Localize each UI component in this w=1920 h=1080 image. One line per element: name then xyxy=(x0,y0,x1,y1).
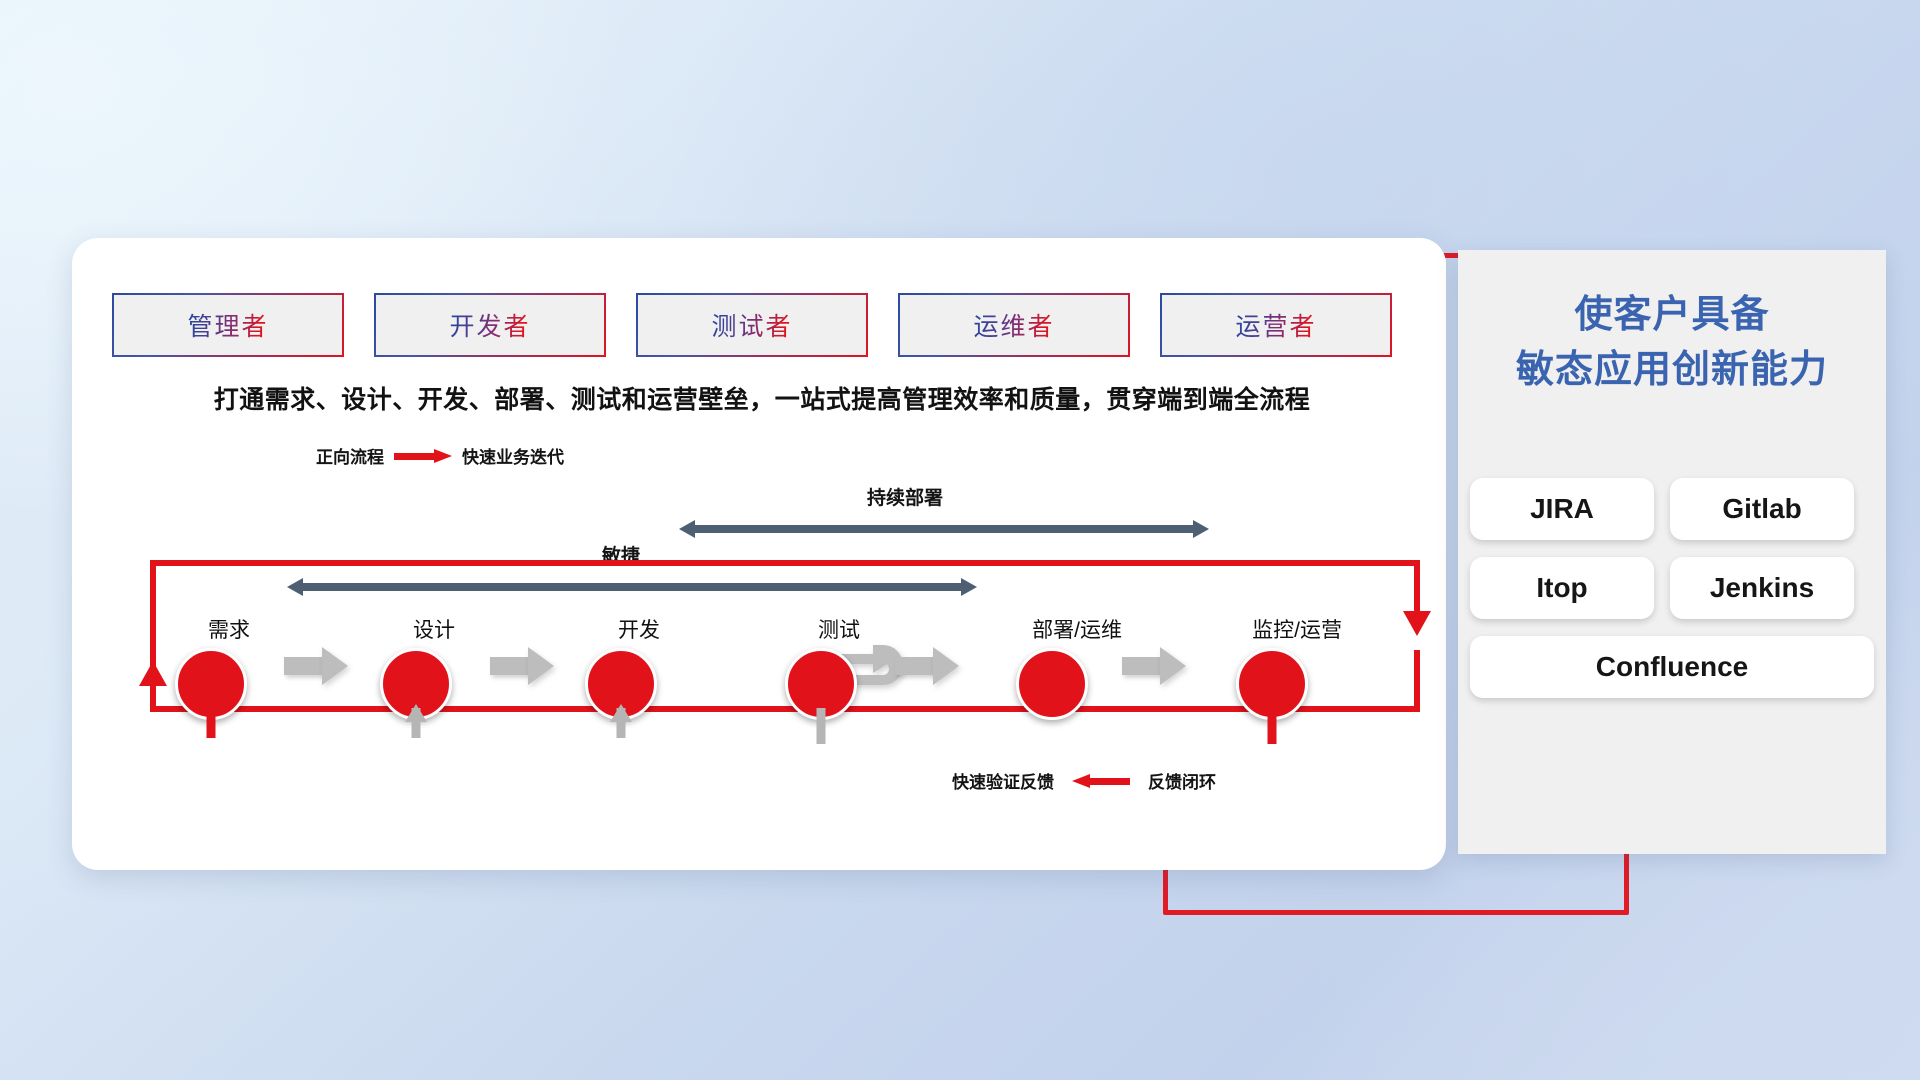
role-box-tester[interactable]: 测试者 xyxy=(636,293,868,357)
tool-chip-confluence[interactable]: Confluence xyxy=(1470,636,1874,698)
stage-dot xyxy=(1016,648,1088,720)
arrow-up-grey-icon xyxy=(610,704,632,722)
role-label: 测试者 xyxy=(711,307,792,343)
continuous-deployment-span-arrow xyxy=(679,520,1209,538)
feedback-loop-right-bottom-rail xyxy=(1414,650,1420,712)
stage-label: 测试 xyxy=(818,614,860,644)
arrow-right-icon xyxy=(895,647,959,685)
role-box-ops[interactable]: 运维者 xyxy=(898,293,1130,357)
pipeline-stage-monitor-operations[interactable]: 监控/运营 xyxy=(1202,614,1342,720)
panel-title-line-2: 敏态应用创新能力 xyxy=(1516,349,1828,391)
description-text: 打通需求、设计、开发、部署、测试和运营壁垒，一站式提高管理效率和质量，贯穿端到端… xyxy=(112,380,1412,416)
legend-feedback-source-label: 反馈闭环 xyxy=(1148,768,1216,793)
role-box-row: 管理者 开发者 测试者 运维者 运营者 xyxy=(112,293,1392,357)
tool-chip-gitlab[interactable]: Gitlab xyxy=(1670,478,1854,540)
slide-canvas: 管理者 开发者 测试者 运维者 运营者 打通需求、设计、开发、部署、测试和运营壁… xyxy=(0,0,1920,1080)
stage-label: 部署/运维 xyxy=(1032,614,1122,644)
legend-forward-source-label: 正向流程 xyxy=(316,443,384,468)
pipeline-row: 需求 设计 开发 xyxy=(112,590,1412,720)
tool-chip-itop[interactable]: Itop xyxy=(1470,557,1654,619)
legend-forward-target-label: 快速业务迭代 xyxy=(462,443,564,468)
legend-feedback-target-label: 快速验证反馈 xyxy=(952,768,1054,793)
arrow-right-icon xyxy=(284,647,348,685)
stage-label: 开发 xyxy=(618,614,660,644)
pipeline-stage-requirements[interactable]: 需求 xyxy=(172,614,250,720)
pipeline-stage-design[interactable]: 设计 xyxy=(377,614,455,720)
arrow-right-red-icon xyxy=(394,449,452,463)
feedback-loop-right-top-rail xyxy=(1414,560,1420,616)
tool-chip-jenkins[interactable]: Jenkins xyxy=(1670,557,1854,619)
main-content-card: 管理者 开发者 测试者 运维者 运营者 打通需求、设计、开发、部署、测试和运营壁… xyxy=(72,238,1446,870)
panel-title: 使客户具备 敏态应用创新能力 xyxy=(1458,288,1886,398)
stage-stalk xyxy=(207,708,216,738)
stage-stalk xyxy=(817,708,826,744)
legend-forward-flow: 正向流程 快速业务迭代 xyxy=(316,443,564,468)
continuous-deployment-label: 持续部署 xyxy=(867,483,943,510)
arrow-right-icon xyxy=(1122,647,1186,685)
role-box-operations[interactable]: 运营者 xyxy=(1160,293,1392,357)
arrow-right-icon xyxy=(490,647,554,685)
role-label: 运营者 xyxy=(1235,307,1316,343)
stage-stalk xyxy=(1268,708,1277,744)
role-box-developer[interactable]: 开发者 xyxy=(374,293,606,357)
stage-label: 需求 xyxy=(208,614,250,644)
stage-label: 监控/运营 xyxy=(1252,614,1342,644)
role-label: 开发者 xyxy=(449,307,530,343)
arrow-left-red-icon xyxy=(1072,774,1130,788)
role-box-manager[interactable]: 管理者 xyxy=(112,293,344,357)
panel-title-line-1: 使客户具备 xyxy=(1574,294,1769,336)
stage-label: 设计 xyxy=(413,614,455,644)
feedback-loop-top-rail xyxy=(150,560,1420,566)
legend-feedback-loop: 快速验证反馈 反馈闭环 xyxy=(952,768,1216,793)
tool-chip-grid: JIRA Gitlab Itop Jenkins Confluence xyxy=(1470,478,1874,698)
role-label: 管理者 xyxy=(187,307,268,343)
value-panel: 使客户具备 敏态应用创新能力 JIRA Gitlab Itop Jenkins … xyxy=(1458,250,1886,854)
pipeline-stage-development[interactable]: 开发 xyxy=(582,614,660,720)
pipeline-stage-deploy-ops[interactable]: 部署/运维 xyxy=(982,614,1122,720)
arrow-up-grey-icon xyxy=(405,704,427,722)
pipeline-stage-testing[interactable]: 测试 xyxy=(782,614,860,720)
tool-chip-jira[interactable]: JIRA xyxy=(1470,478,1654,540)
role-label: 运维者 xyxy=(973,307,1054,343)
